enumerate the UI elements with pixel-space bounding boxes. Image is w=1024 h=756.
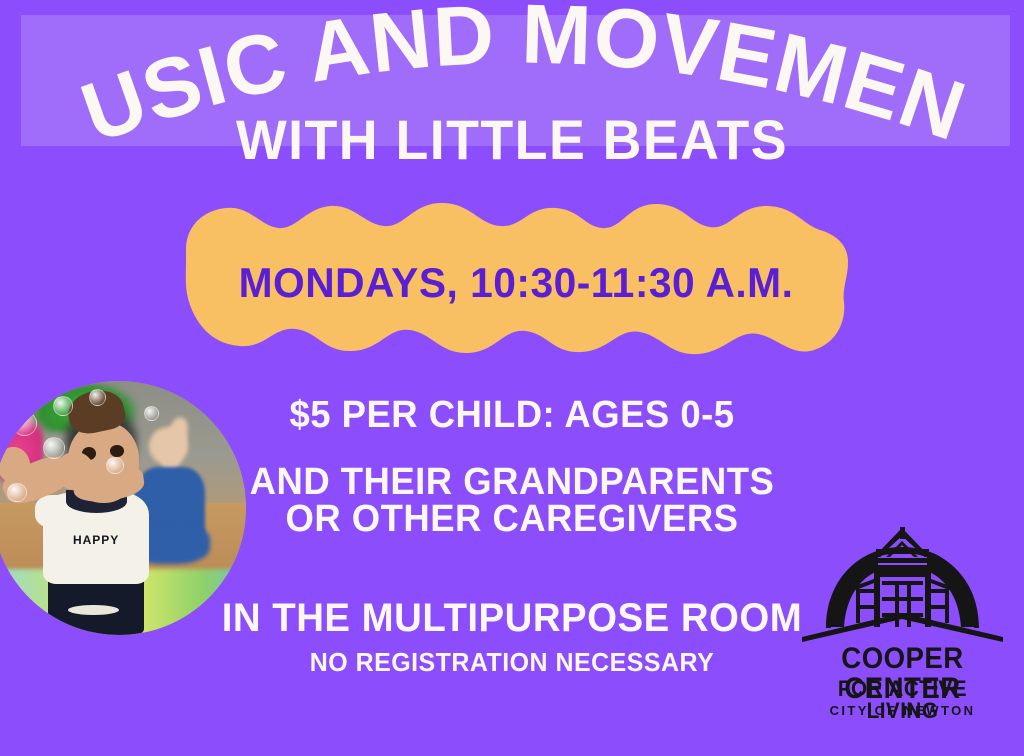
caregivers-line-1: AND THEIR GRANDPARENTS	[20, 463, 1003, 501]
flyer-poster: MUSIC AND MOVEMENT WITH LITTLE BEATS MON…	[0, 0, 1024, 756]
schedule-text: MONDAYS, 10:30-11:30 A.M.	[188, 262, 844, 304]
page-subtitle: WITH LITTLE BEATS	[20, 112, 1003, 168]
price-line: $5 PER CHILD: AGES 0-5	[20, 396, 1003, 434]
logo-city: CITY OF NEWTON	[800, 704, 1005, 717]
cooper-center-logo: COOPER CENTER FOR ACTIVE LIVING CITY OF …	[800, 527, 1005, 717]
photo-child-eye-right	[110, 445, 124, 458]
cooper-center-building-icon	[800, 527, 1005, 642]
